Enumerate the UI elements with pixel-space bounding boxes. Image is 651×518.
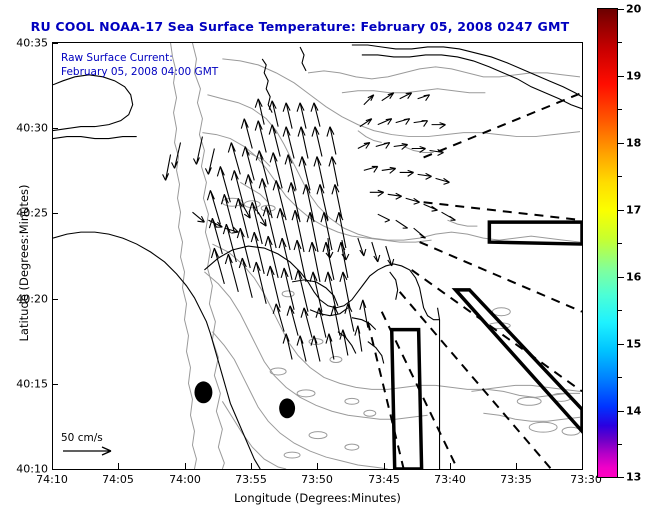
y-tick-1 [52,128,58,129]
y-tick-2 [52,213,58,214]
survey-boxes [392,222,582,469]
cbar-label-13: 13 [626,471,641,484]
map-canvas [53,43,582,469]
radial-dashed-lines [368,93,582,469]
cbar-label-14: 14 [626,405,641,418]
cbar-tick-18p5 [618,109,622,110]
y-tick-3 [52,299,58,300]
x-tick-label-6: 73:40 [434,473,466,486]
cbar-tick-16p5 [618,243,622,244]
y-tick-label-0: 40:35 [16,37,48,50]
y-tick-5 [52,469,58,470]
colorbar [597,8,618,478]
x-tick-5 [384,463,385,469]
x-axis-title: Longitude (Degrees:Minutes) [52,491,583,505]
y-tick-label-5: 40:10 [16,463,48,476]
x-tick-label-3: 73:55 [235,473,267,486]
cbar-label-18: 18 [626,137,641,150]
sst-map-figure: RU COOL NOAA-17 Sea Surface Temperature:… [0,0,651,518]
cbar-tick-13 [618,477,624,478]
cbar-tick-19 [618,76,624,77]
x-tick-3 [251,463,252,469]
cbar-tick-15 [618,344,624,345]
cbar-tick-20 [618,9,624,10]
cbar-tick-19p5 [618,42,622,43]
x-tick-8 [582,463,583,469]
x-tick-2 [185,463,186,469]
cbar-label-17: 17 [626,204,641,217]
bathymetry-contours [171,43,580,469]
cbar-tick-17 [618,210,624,211]
x-tick-4 [317,463,318,469]
station-markers [194,381,295,418]
vector-scale-arrow-icon [61,445,117,457]
plot-area: Raw Surface Current: February 05, 2008 0… [52,42,583,470]
x-tick-label-5: 73:45 [368,473,400,486]
x-tick-label-4: 73:50 [301,473,333,486]
cbar-label-16: 16 [626,271,641,284]
cbar-label-15: 15 [626,338,641,351]
cbar-label-19: 19 [626,70,641,83]
x-tick-label-7: 73:35 [500,473,532,486]
cbar-tick-14p5 [618,377,622,378]
y-tick-0 [52,43,58,44]
x-tick-6 [450,463,451,469]
x-tick-1 [118,463,119,469]
cbar-label-20: 20 [626,3,641,16]
y-tick-label-1: 40:30 [16,122,48,135]
page-title: RU COOL NOAA-17 Sea Surface Temperature:… [0,19,600,34]
y-axis-title: Latitude (Degrees:Minutes) [17,143,31,383]
x-tick-label-1: 74:05 [102,473,134,486]
x-tick-7 [516,463,517,469]
cbar-tick-13p5 [618,444,622,445]
cbar-tick-18 [618,143,624,144]
cbar-tick-16 [618,277,624,278]
x-tick-label-2: 74:00 [169,473,201,486]
cbar-tick-14 [618,411,624,412]
y-tick-4 [52,384,58,385]
vector-scale-label: 50 cm/s [61,432,117,444]
cbar-tick-17p5 [618,176,622,177]
vector-scale-key: 50 cm/s [61,432,117,457]
cbar-tick-15p5 [618,310,622,311]
